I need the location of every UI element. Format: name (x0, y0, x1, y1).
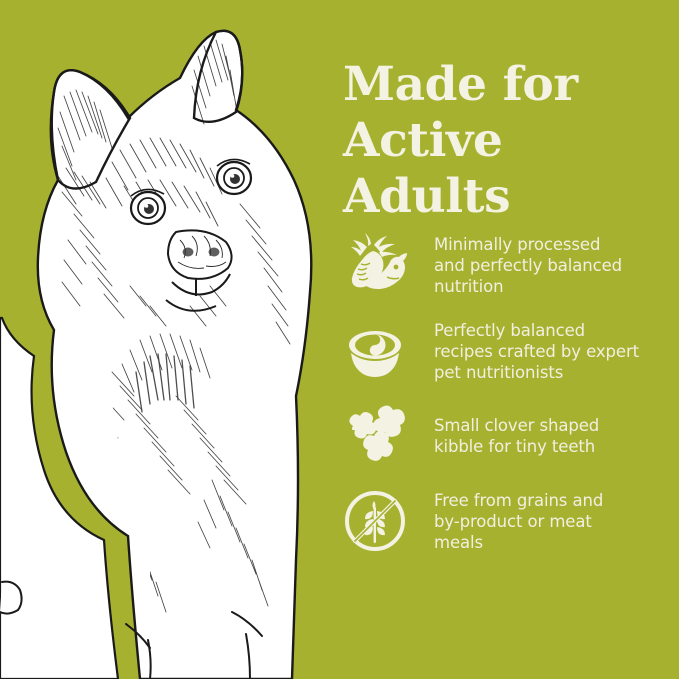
product-feature-infographic: Made for Active Adults (0, 0, 679, 679)
feature-item-nutrition: Minimally processed and perfectly balanc… (330, 222, 679, 308)
feature-item-recipes: Perfectly balanced recipes crafted by ex… (330, 308, 679, 394)
feature-text: Small clover shaped kibble for tiny teet… (434, 415, 679, 457)
carrot-fish-icon (342, 232, 408, 298)
balanced-bowl-icon (342, 318, 408, 384)
content-column: Made for Active Adults (330, 0, 679, 679)
page-title: Made for Active Adults (343, 57, 673, 225)
feature-text: Perfectly balanced recipes crafted by ex… (434, 320, 679, 383)
feature-item-kibble: Small clover shaped kibble for tiny teet… (330, 394, 679, 478)
clover-kibble-icon (342, 403, 408, 469)
dog-illustration (0, 0, 330, 679)
feature-text: Free from grains and by-product or meat … (434, 490, 679, 553)
grain-free-icon (342, 488, 408, 554)
feature-list: Minimally processed and perfectly balanc… (330, 222, 679, 564)
feature-text: Minimally processed and perfectly balanc… (434, 234, 679, 297)
feature-item-grain-free: Free from grains and by-product or meat … (330, 478, 679, 564)
